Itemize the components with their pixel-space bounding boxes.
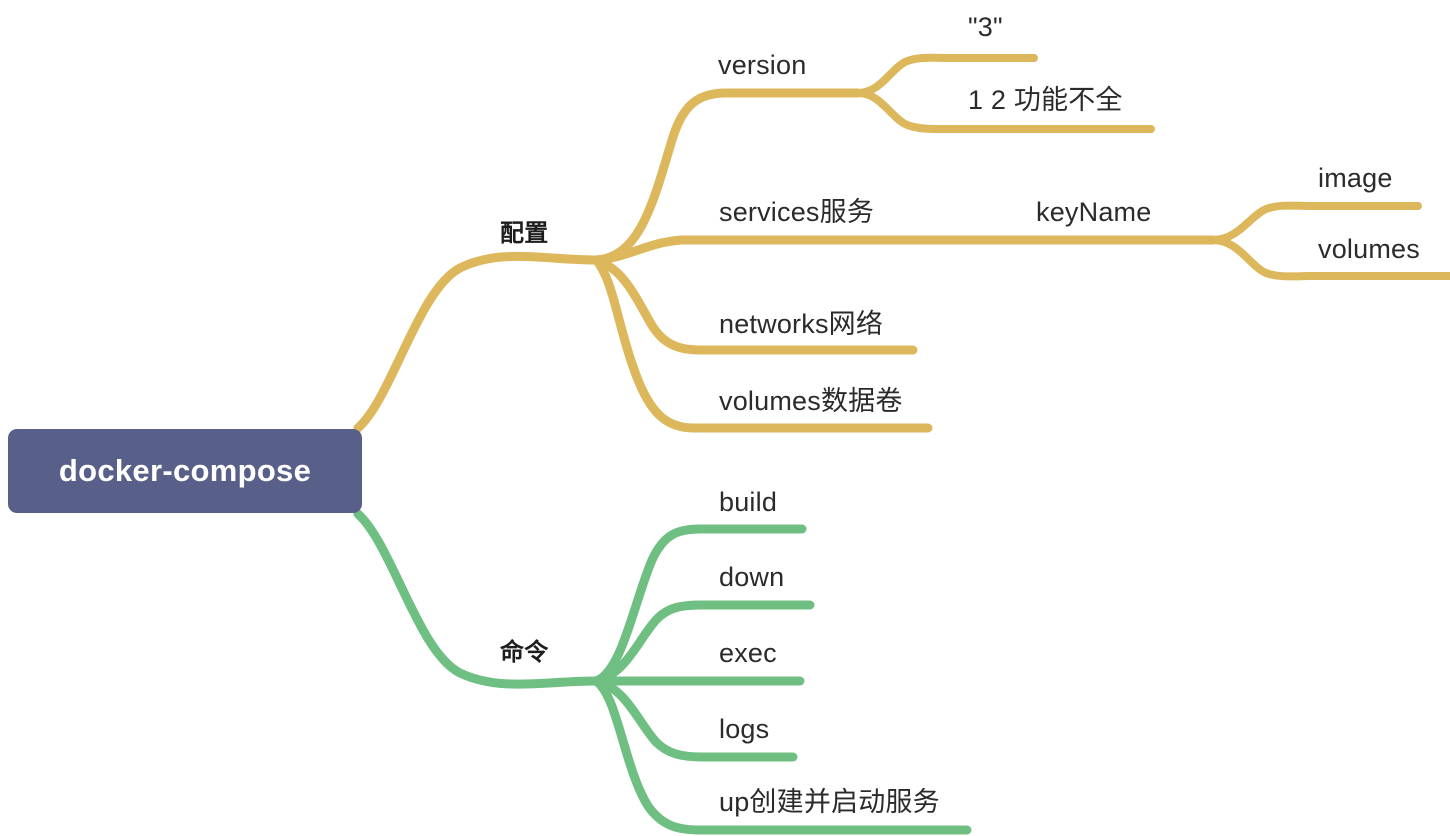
branch-line-root-to-config: [358, 256, 596, 428]
node-label-volumes-key[interactable]: volumes: [1318, 236, 1420, 263]
node-label-exec[interactable]: exec: [719, 640, 777, 667]
node-label-keyname[interactable]: keyName: [1036, 199, 1151, 226]
branch-line-config-to-version: [596, 93, 858, 260]
branch-line-command-to-down: [596, 605, 810, 681]
node-label-services[interactable]: services服务: [719, 199, 874, 226]
root-node-label: docker-compose: [59, 453, 311, 489]
node-label-image[interactable]: image: [1318, 165, 1393, 192]
node-label-version-12[interactable]: 1 2 功能不全: [968, 87, 1123, 114]
node-label-build[interactable]: build: [719, 489, 777, 516]
branch-line-config-to-services: [596, 240, 1213, 260]
node-label-down[interactable]: down: [719, 564, 784, 591]
branch-line-root-to-command: [358, 514, 596, 684]
root-node[interactable]: docker-compose: [8, 429, 362, 513]
branch-lines-layer: [0, 0, 1450, 836]
node-label-version[interactable]: version: [718, 52, 806, 79]
node-label-networks[interactable]: networks网络: [719, 311, 883, 338]
node-label-command[interactable]: 命令: [500, 641, 548, 665]
mindmap-canvas: docker-compose 配置 version "3" 1 2 功能不全 s…: [0, 0, 1450, 836]
node-label-config[interactable]: 配置: [500, 222, 548, 246]
node-label-version-3[interactable]: "3": [968, 14, 1003, 41]
node-label-volumes[interactable]: volumes数据卷: [719, 388, 903, 415]
node-label-logs[interactable]: logs: [719, 716, 769, 743]
node-label-up[interactable]: up创建并启动服务: [719, 789, 940, 816]
